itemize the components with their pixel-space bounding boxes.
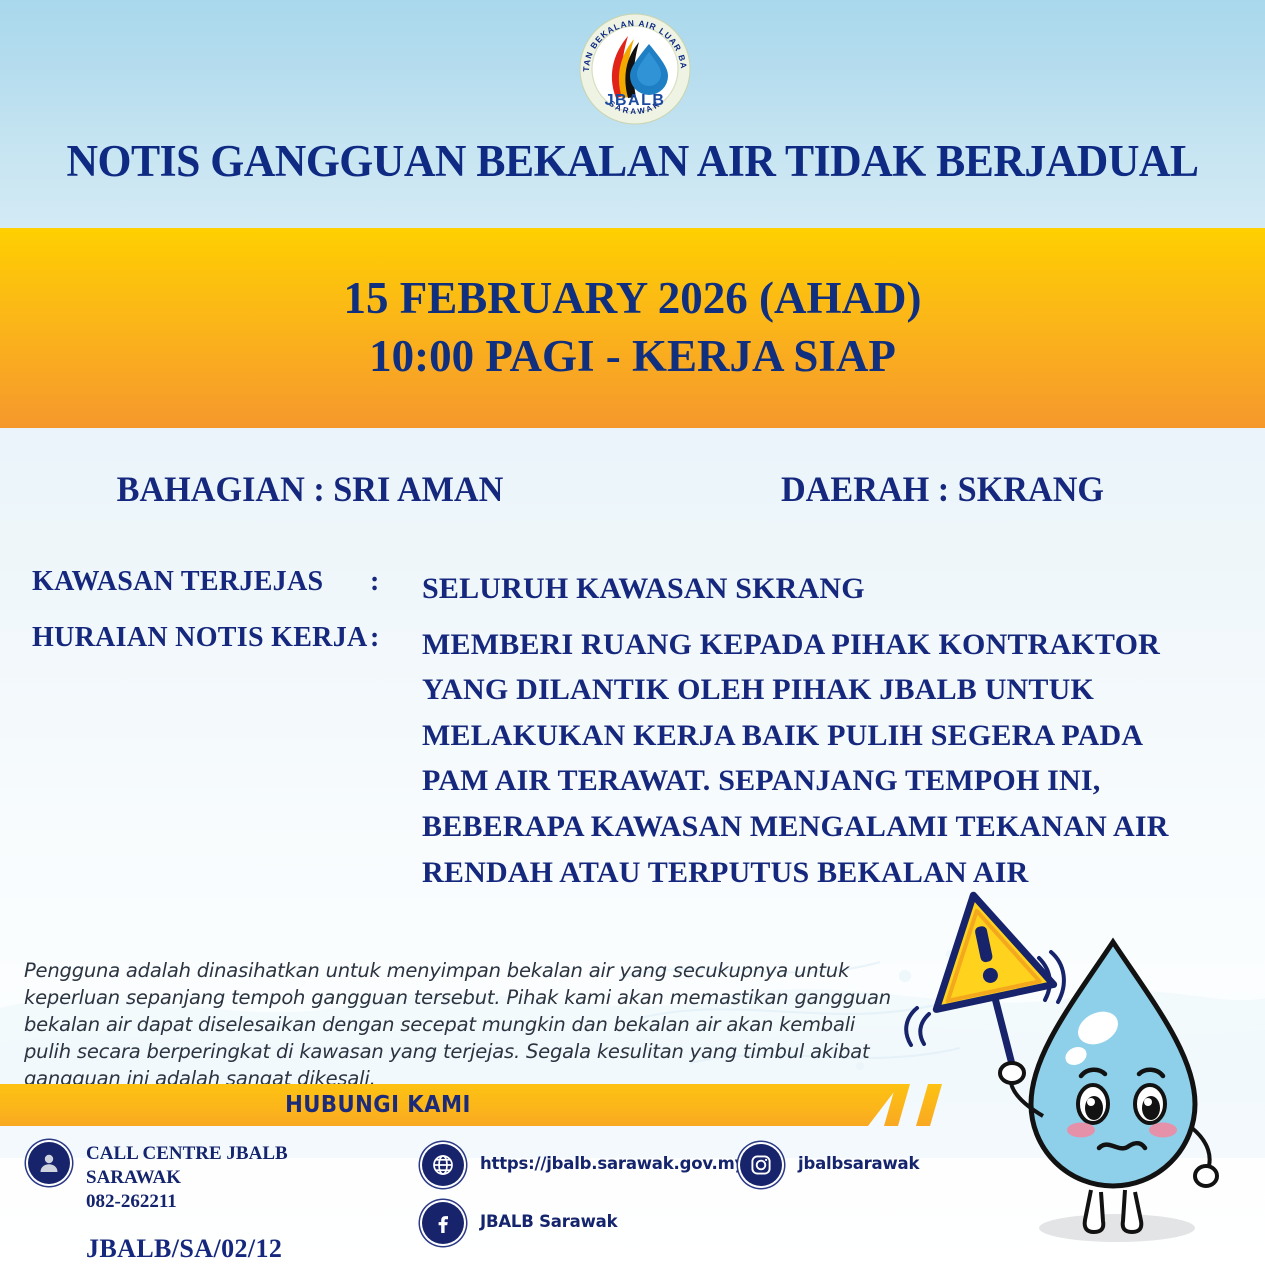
field-value-kawasan: SELURUH KAWASAN SKRANG (422, 566, 1212, 612)
header-band: JABATAN BEKALAN AIR LUAR BANDAR SARAWAK … (0, 0, 1265, 228)
field-row-kawasan: KAWASAN TERJEJAS : SELURUH KAWASAN SKRAN… (0, 566, 1265, 612)
contact-facebook[interactable]: JBALB Sarawak (422, 1202, 617, 1244)
mascot-illustration (895, 880, 1265, 1275)
date-banner: 15 FEBRUARY 2026 (AHAD) 10:00 PAGI - KER… (0, 228, 1265, 428)
contact-call-centre-text: CALL CENTRE JBALB SARAWAK 082-262211 (86, 1142, 288, 1213)
contact-banner-label: HUBUNGI KAMI (285, 1092, 471, 1118)
jbalb-logo: JABATAN BEKALAN AIR LUAR BANDAR SARAWAK … (576, 10, 694, 128)
instagram-icon (740, 1144, 782, 1186)
contact-call-centre[interactable]: CALL CENTRE JBALB SARAWAK 082-262211 (28, 1142, 288, 1213)
banner-slash-2 (916, 1084, 942, 1126)
contact-website[interactable]: https://jbalb.sarawak.gov.my/ (422, 1144, 751, 1186)
region-row: BAHAGIAN : SRI AMAN DAERAH : SKRANG (0, 468, 1265, 510)
reference-number: JBALB/SA/02/12 (86, 1234, 282, 1264)
contact-banner: HUBUNGI KAMI (0, 1084, 980, 1126)
water-droplet-mascot (895, 880, 1265, 1275)
svg-text:JBALB: JBALB (605, 92, 666, 109)
notice-poster: JABATAN BEKALAN AIR LUAR BANDAR SARAWAK … (0, 0, 1265, 1275)
date-line-2: 10:00 PAGI - KERJA SIAP (369, 328, 896, 386)
contact-instagram[interactable]: jbalbsarawak (740, 1144, 919, 1186)
facebook-icon (422, 1202, 464, 1244)
contact-banner-shape: HUBUNGI KAMI (0, 1084, 900, 1126)
contact-website-text: https://jbalb.sarawak.gov.my/ (480, 1144, 751, 1175)
globe-icon (422, 1144, 464, 1186)
contact-instagram-text: jbalbsarawak (798, 1144, 919, 1175)
jbalb-logo-icon: JABATAN BEKALAN AIR LUAR BANDAR SARAWAK … (576, 10, 694, 128)
person-icon (28, 1142, 70, 1184)
date-line-1: 15 FEBRUARY 2026 (AHAD) (344, 270, 922, 328)
field-value-huraian: MEMBERI RUANG KEPADA PIHAK KONTRAKTOR YA… (422, 622, 1212, 896)
field-row-huraian: HURAIAN NOTIS KERJA : MEMBERI RUANG KEPA… (0, 622, 1265, 896)
daerah-label: DAERAH : SKRANG (636, 468, 1249, 510)
field-label-kawasan: KAWASAN TERJEJAS (0, 566, 370, 598)
advisory-text: Pengguna adalah dinasihatkan untuk menyi… (24, 958, 896, 1093)
contact-facebook-text: JBALB Sarawak (480, 1202, 617, 1233)
field-colon-kawasan: : (370, 566, 422, 598)
page-title: NOTIS GANGGUAN BEKALAN AIR TIDAK BERJADU… (19, 135, 1246, 187)
field-colon-huraian: : (370, 622, 422, 654)
fields-list: KAWASAN TERJEJAS : SELURUH KAWASAN SKRAN… (0, 566, 1265, 901)
field-label-huraian: HURAIAN NOTIS KERJA (0, 622, 370, 654)
bahagian-label: BAHAGIAN : SRI AMAN (16, 468, 605, 510)
